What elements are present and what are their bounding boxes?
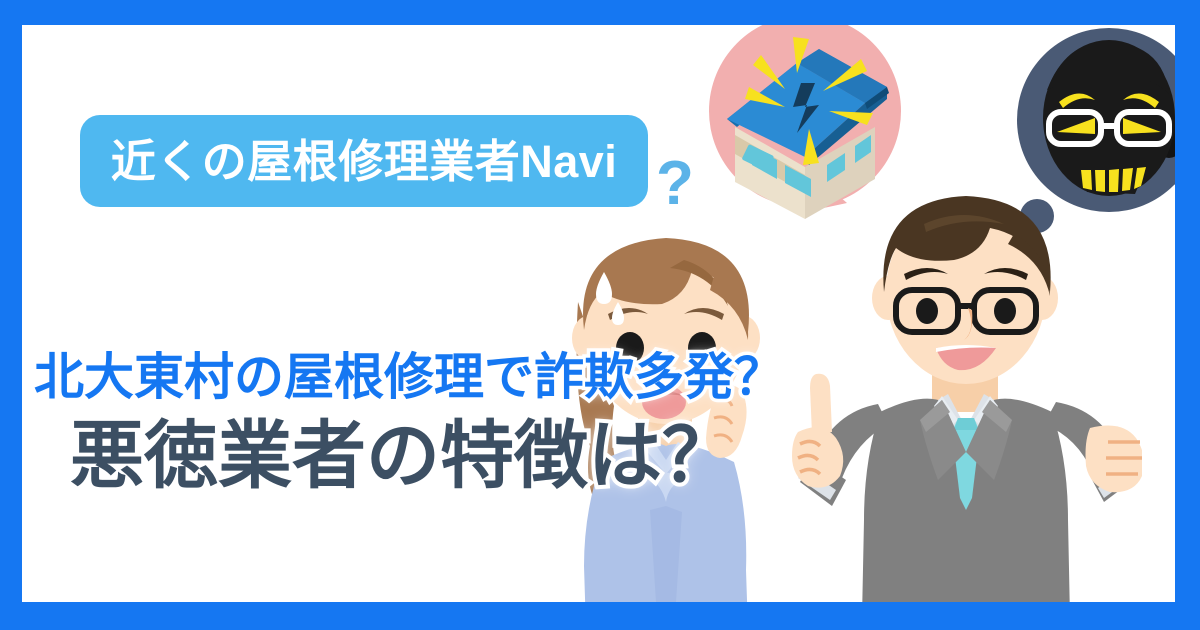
explaining-businessman-character <box>792 180 1142 602</box>
banner-stage: 近くの屋根修理業者Navi ? 北大東村の屋根修理で詐欺多発？ 悪徳業者の特徴は… <box>22 25 1175 602</box>
banner-canvas: 近くの屋根修理業者Navi ? 北大東村の屋根修理で詐欺多発？ 悪徳業者の特徴は… <box>0 0 1200 630</box>
question-mark-decor-icon: ? <box>656 153 694 215</box>
site-name-badge[interactable]: 近くの屋根修理業者Navi <box>80 115 648 207</box>
frame-border-left <box>0 0 22 630</box>
frame-border-top <box>0 0 1200 25</box>
headline-block: 北大東村の屋根修理で詐欺多発？ 悪徳業者の特徴は？ <box>22 350 822 496</box>
site-name-badge-label: 近くの屋根修理業者Navi <box>111 139 618 184</box>
headline-line-1: 北大東村の屋根修理で詐欺多発？ <box>34 350 822 404</box>
frame-border-right <box>1175 0 1200 630</box>
headline-line-2: 悪徳業者の特徴は？ <box>70 416 822 496</box>
frame-border-bottom <box>0 602 1200 630</box>
